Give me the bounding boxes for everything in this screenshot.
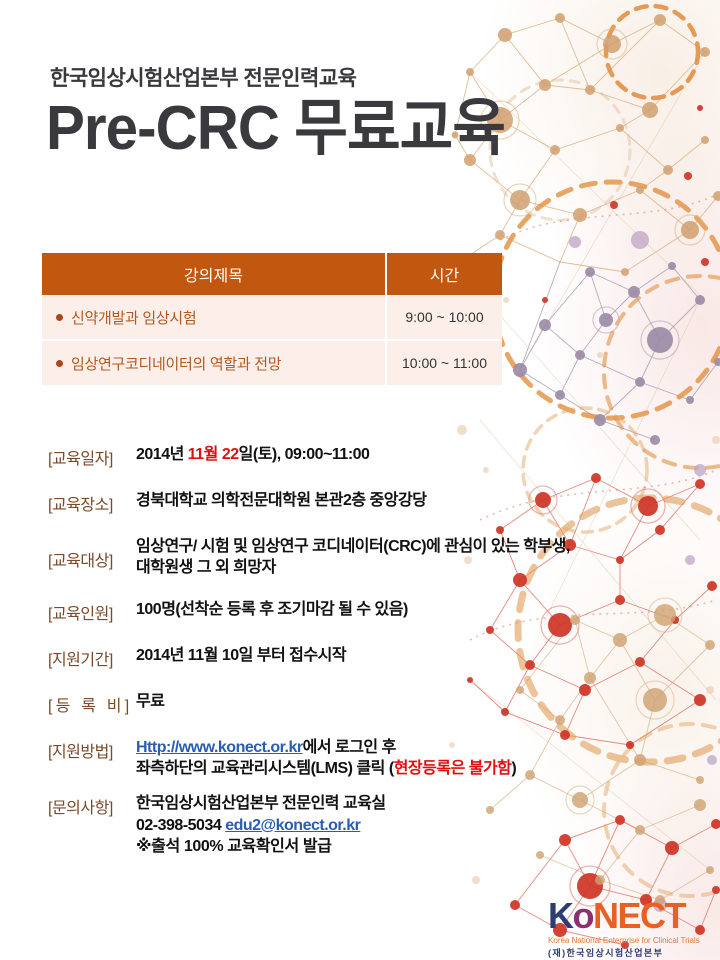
info-label-fee: [등 록 비] — [48, 691, 136, 716]
contact-line-2: 02-398-5034 edu2@konect.or.kr — [136, 815, 668, 836]
apply-line2-before: 좌측하단의 교육관리시스템(LMS) 클릭 ( — [136, 760, 394, 777]
apply-line-2: 좌측하단의 교육관리시스템(LMS) 클릭 (현장등록은 불가함) — [136, 758, 668, 779]
schedule-table-head: 강의제목 시간 — [42, 253, 502, 295]
info-label-capacity: [교육인원] — [48, 599, 136, 624]
info-list: [교육일자] 2014년 11월 22일(토), 09:00~11:00 [교육… — [48, 444, 668, 871]
info-row-how-to-apply: [지원방법] Http://www.konect.or.kr에서 로그인 후 좌… — [48, 737, 668, 779]
page-title: Pre-CRC 무료교육 — [46, 98, 505, 160]
apply-warning: 현장등록은 불가함 — [394, 760, 512, 777]
logo-tagline-english: Korea National Enterprise for Clinical T… — [548, 936, 708, 945]
apply-after-url: 에서 로그인 후 — [303, 739, 396, 756]
date-day: 22 — [222, 446, 239, 463]
logo-letter-o: o — [573, 895, 594, 936]
contact-email-link[interactable]: edu2@konect.or.kr — [225, 817, 360, 834]
info-value-date: 2014년 11월 22일(토), 09:00~11:00 — [136, 444, 668, 465]
konect-logo: KoNECT Korea National Enterprise for Cli… — [548, 898, 708, 959]
cell-time: 9:00 ~ 10:00 — [386, 295, 502, 340]
cell-time: 10:00 ~ 11:00 — [386, 340, 502, 385]
audience-line-1: 임상연구/ 시험 및 임상연구 코디네이터(CRC)에 관심이 있는 학부생, — [136, 536, 668, 557]
attendance-note: ※출석 100% 교육확인서 발급 — [136, 838, 332, 855]
info-value-apply-period: 2014년 11월 10일 부터 접수시작 — [136, 645, 668, 666]
info-label-place: [교육장소] — [48, 490, 136, 515]
bullet-icon — [56, 314, 63, 321]
info-value-contact: 한국임상시험산업본부 전문인력 교육실 02-398-5034 edu2@kon… — [136, 793, 668, 856]
table-row: 신약개발과 임상시험 9:00 ~ 10:00 — [42, 295, 502, 340]
info-row-apply-period: [지원기간] 2014년 11월 10일 부터 접수시작 — [48, 645, 668, 670]
info-value-fee: 무료 — [136, 691, 668, 712]
date-year: 2014년 — [136, 446, 188, 463]
cell-topic: 신약개발과 임상시험 — [42, 295, 386, 340]
contact-phone: 02-398-5034 — [136, 817, 225, 834]
topic-label: 신약개발과 임상시험 — [71, 310, 196, 327]
info-value-place: 경북대학교 의학전문대학원 본관2층 중앙강당 — [136, 490, 668, 511]
info-label-date: [교육일자] — [48, 444, 136, 469]
table-header-row: 강의제목 시간 — [42, 253, 502, 295]
schedule-table: 강의제목 시간 신약개발과 임상시험 9:00 ~ 10:00 임상연구코디네이… — [42, 253, 502, 385]
info-row-contact: [문의사항] 한국임상시험산업본부 전문인력 교육실 02-398-5034 e… — [48, 793, 668, 856]
info-row-fee: [등 록 비] 무료 — [48, 691, 668, 716]
poster-root: 한국임상시험산업본부 전문인력교육 Pre-CRC 무료교육 강의제목 시간 신… — [0, 0, 720, 960]
cell-topic: 임상연구코디네이터의 역할과 전망 — [42, 340, 386, 385]
poster-subtitle: 한국임상시험산업본부 전문인력교육 — [50, 62, 356, 92]
logo-letters-nect: NECT — [593, 895, 685, 936]
info-row-audience: [교육대상] 임상연구/ 시험 및 임상연구 코디네이터(CRC)에 관심이 있… — [48, 536, 668, 578]
logo-letter-k: K — [548, 895, 573, 936]
info-value-how-to-apply: Http://www.konect.or.kr에서 로그인 후 좌측하단의 교육… — [136, 737, 668, 779]
konect-website-link[interactable]: Http://www.konect.or.kr — [136, 739, 303, 756]
info-value-audience: 임상연구/ 시험 및 임상연구 코디네이터(CRC)에 관심이 있는 학부생, … — [136, 536, 668, 578]
date-rest: 일(토), 09:00~11:00 — [239, 446, 370, 463]
date-month: 11월 — [188, 446, 218, 463]
konect-wordmark: KoNECT — [548, 898, 708, 934]
column-header-topic: 강의제목 — [42, 253, 386, 295]
topic-label: 임상연구코디네이터의 역할과 전망 — [71, 356, 281, 373]
info-row-place: [교육장소] 경북대학교 의학전문대학원 본관2층 중앙강당 — [48, 490, 668, 515]
info-label-contact: [문의사항] — [48, 793, 136, 818]
apply-line-1: Http://www.konect.or.kr에서 로그인 후 — [136, 737, 668, 758]
info-row-capacity: [교육인원] 100명(선착순 등록 후 조기마감 될 수 있음) — [48, 599, 668, 624]
info-value-capacity: 100명(선착순 등록 후 조기마감 될 수 있음) — [136, 599, 668, 620]
apply-line2-after: ) — [511, 760, 516, 777]
info-row-date: [교육일자] 2014년 11월 22일(토), 09:00~11:00 — [48, 444, 668, 469]
column-header-time: 시간 — [386, 253, 502, 295]
info-label-how-to-apply: [지원방법] — [48, 737, 136, 762]
audience-line-2: 대학원생 그 외 희망자 — [136, 557, 668, 578]
schedule-table-body: 신약개발과 임상시험 9:00 ~ 10:00 임상연구코디네이터의 역할과 전… — [42, 295, 502, 385]
info-label-apply-period: [지원기간] — [48, 645, 136, 670]
logo-tagline-korean: (재)한국임상시험산업본부 — [548, 946, 708, 959]
contact-line-1: 한국임상시험산업본부 전문인력 교육실 — [136, 793, 668, 814]
bullet-icon — [56, 360, 63, 367]
info-label-audience: [교육대상] — [48, 536, 136, 571]
table-row: 임상연구코디네이터의 역할과 전망 10:00 ~ 11:00 — [42, 340, 502, 385]
